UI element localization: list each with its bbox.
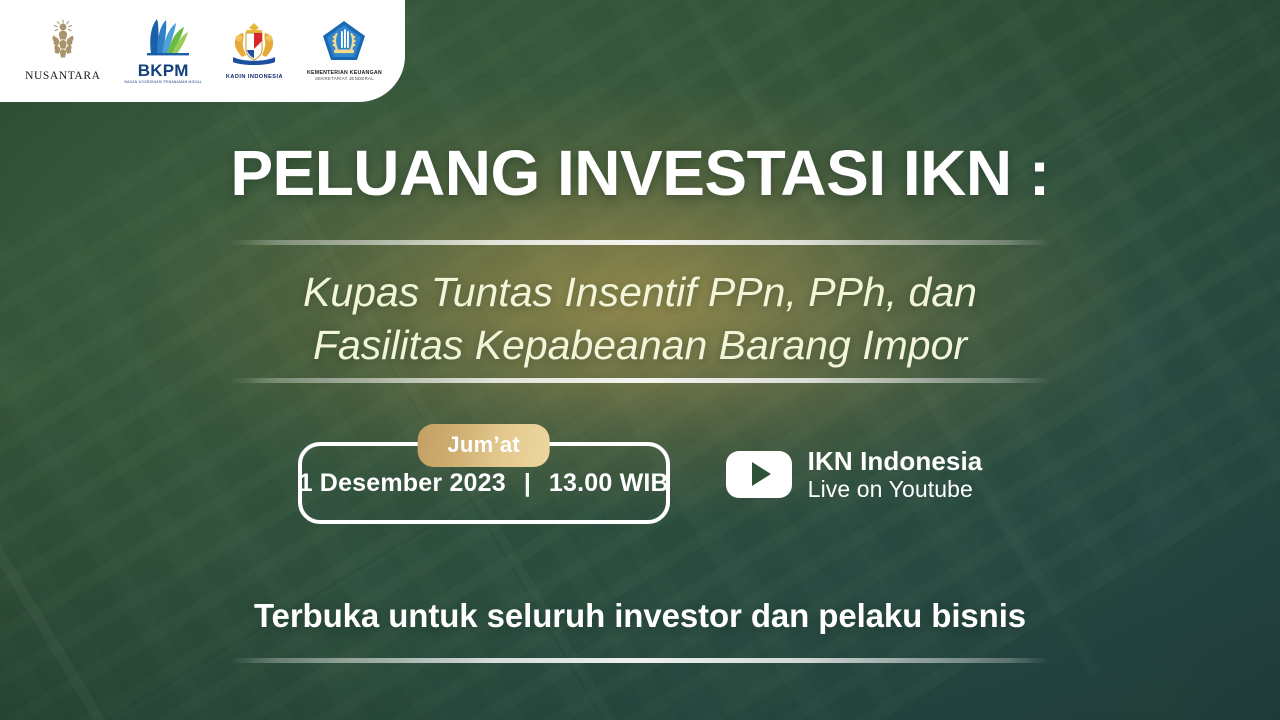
nusantara-tree-emblem-icon xyxy=(43,18,83,67)
event-date: 1 Desember 2023 xyxy=(299,469,506,498)
logo-label-kadin: KADIN INDONESIA xyxy=(226,74,283,80)
event-poster: NUSANTARA BKPM BADAN KOORDINASI PENANAMA xyxy=(0,0,1280,720)
sponsor-logo-bar: NUSANTARA BKPM BADAN KOORDINASI PENANAMA xyxy=(0,0,405,102)
youtube-channel-name: IKN Indonesia xyxy=(808,446,983,476)
play-triangle-icon xyxy=(752,462,771,486)
youtube-platform-label: Live on Youtube xyxy=(808,476,983,503)
logo-sublabel-kemenkeu: SEKRETARIAT JENDERAL xyxy=(315,76,374,81)
event-info-row: Jum’at 1 Desember 2023 | 13.00 WIB IKN I… xyxy=(0,424,1280,524)
kadin-coat-of-arms-icon xyxy=(228,21,280,72)
logo-label-bkpm: BKPM xyxy=(138,62,189,79)
page-subtitle: Kupas Tuntas Insentif PPn, PPh, dan Fasi… xyxy=(0,266,1280,373)
event-date-block: Jum’at 1 Desember 2023 | 13.00 WIB xyxy=(298,424,670,524)
page-title: PELUANG INVESTASI IKN : xyxy=(0,136,1280,210)
youtube-text: IKN Indonesia Live on Youtube xyxy=(808,446,983,503)
poster-content: PELUANG INVESTASI IKN : Kupas Tuntas Ins… xyxy=(0,0,1280,720)
divider-top xyxy=(230,240,1050,245)
youtube-broadcast-block[interactable]: IKN Indonesia Live on Youtube xyxy=(726,446,983,503)
kemenkeu-pentagon-emblem-icon xyxy=(321,19,367,68)
logo-kemenkeu: KEMENTERIAN KEUANGAN SEKRETARIAT JENDERA… xyxy=(307,19,382,82)
divider-bottom xyxy=(230,658,1050,663)
subtitle-line-2: Fasilitas Kepabeanan Barang Impor xyxy=(0,319,1280,372)
poster-tagline: Terbuka untuk seluruh investor dan pelak… xyxy=(0,597,1280,635)
logo-bkpm: BKPM BADAN KOORDINASI PENANAMAN MODAL xyxy=(125,16,202,84)
day-badge: Jum’at xyxy=(417,424,550,467)
event-time: 13.00 WIB xyxy=(549,469,669,498)
subtitle-line-1: Kupas Tuntas Insentif PPn, PPh, dan xyxy=(0,266,1280,319)
logo-label-kemenkeu: KEMENTERIAN KEUANGAN xyxy=(307,70,382,76)
date-time-separator: | xyxy=(524,469,531,498)
logo-kadin: KADIN INDONESIA xyxy=(226,21,283,80)
logo-label-nusantara: NUSANTARA xyxy=(25,70,100,82)
bkpm-fan-emblem-icon xyxy=(137,16,189,61)
divider-middle xyxy=(230,378,1050,383)
logo-sublabel-bkpm: BADAN KOORDINASI PENANAMAN MODAL xyxy=(125,80,202,84)
logo-nusantara: NUSANTARA xyxy=(25,18,100,82)
youtube-play-icon[interactable] xyxy=(726,451,792,498)
